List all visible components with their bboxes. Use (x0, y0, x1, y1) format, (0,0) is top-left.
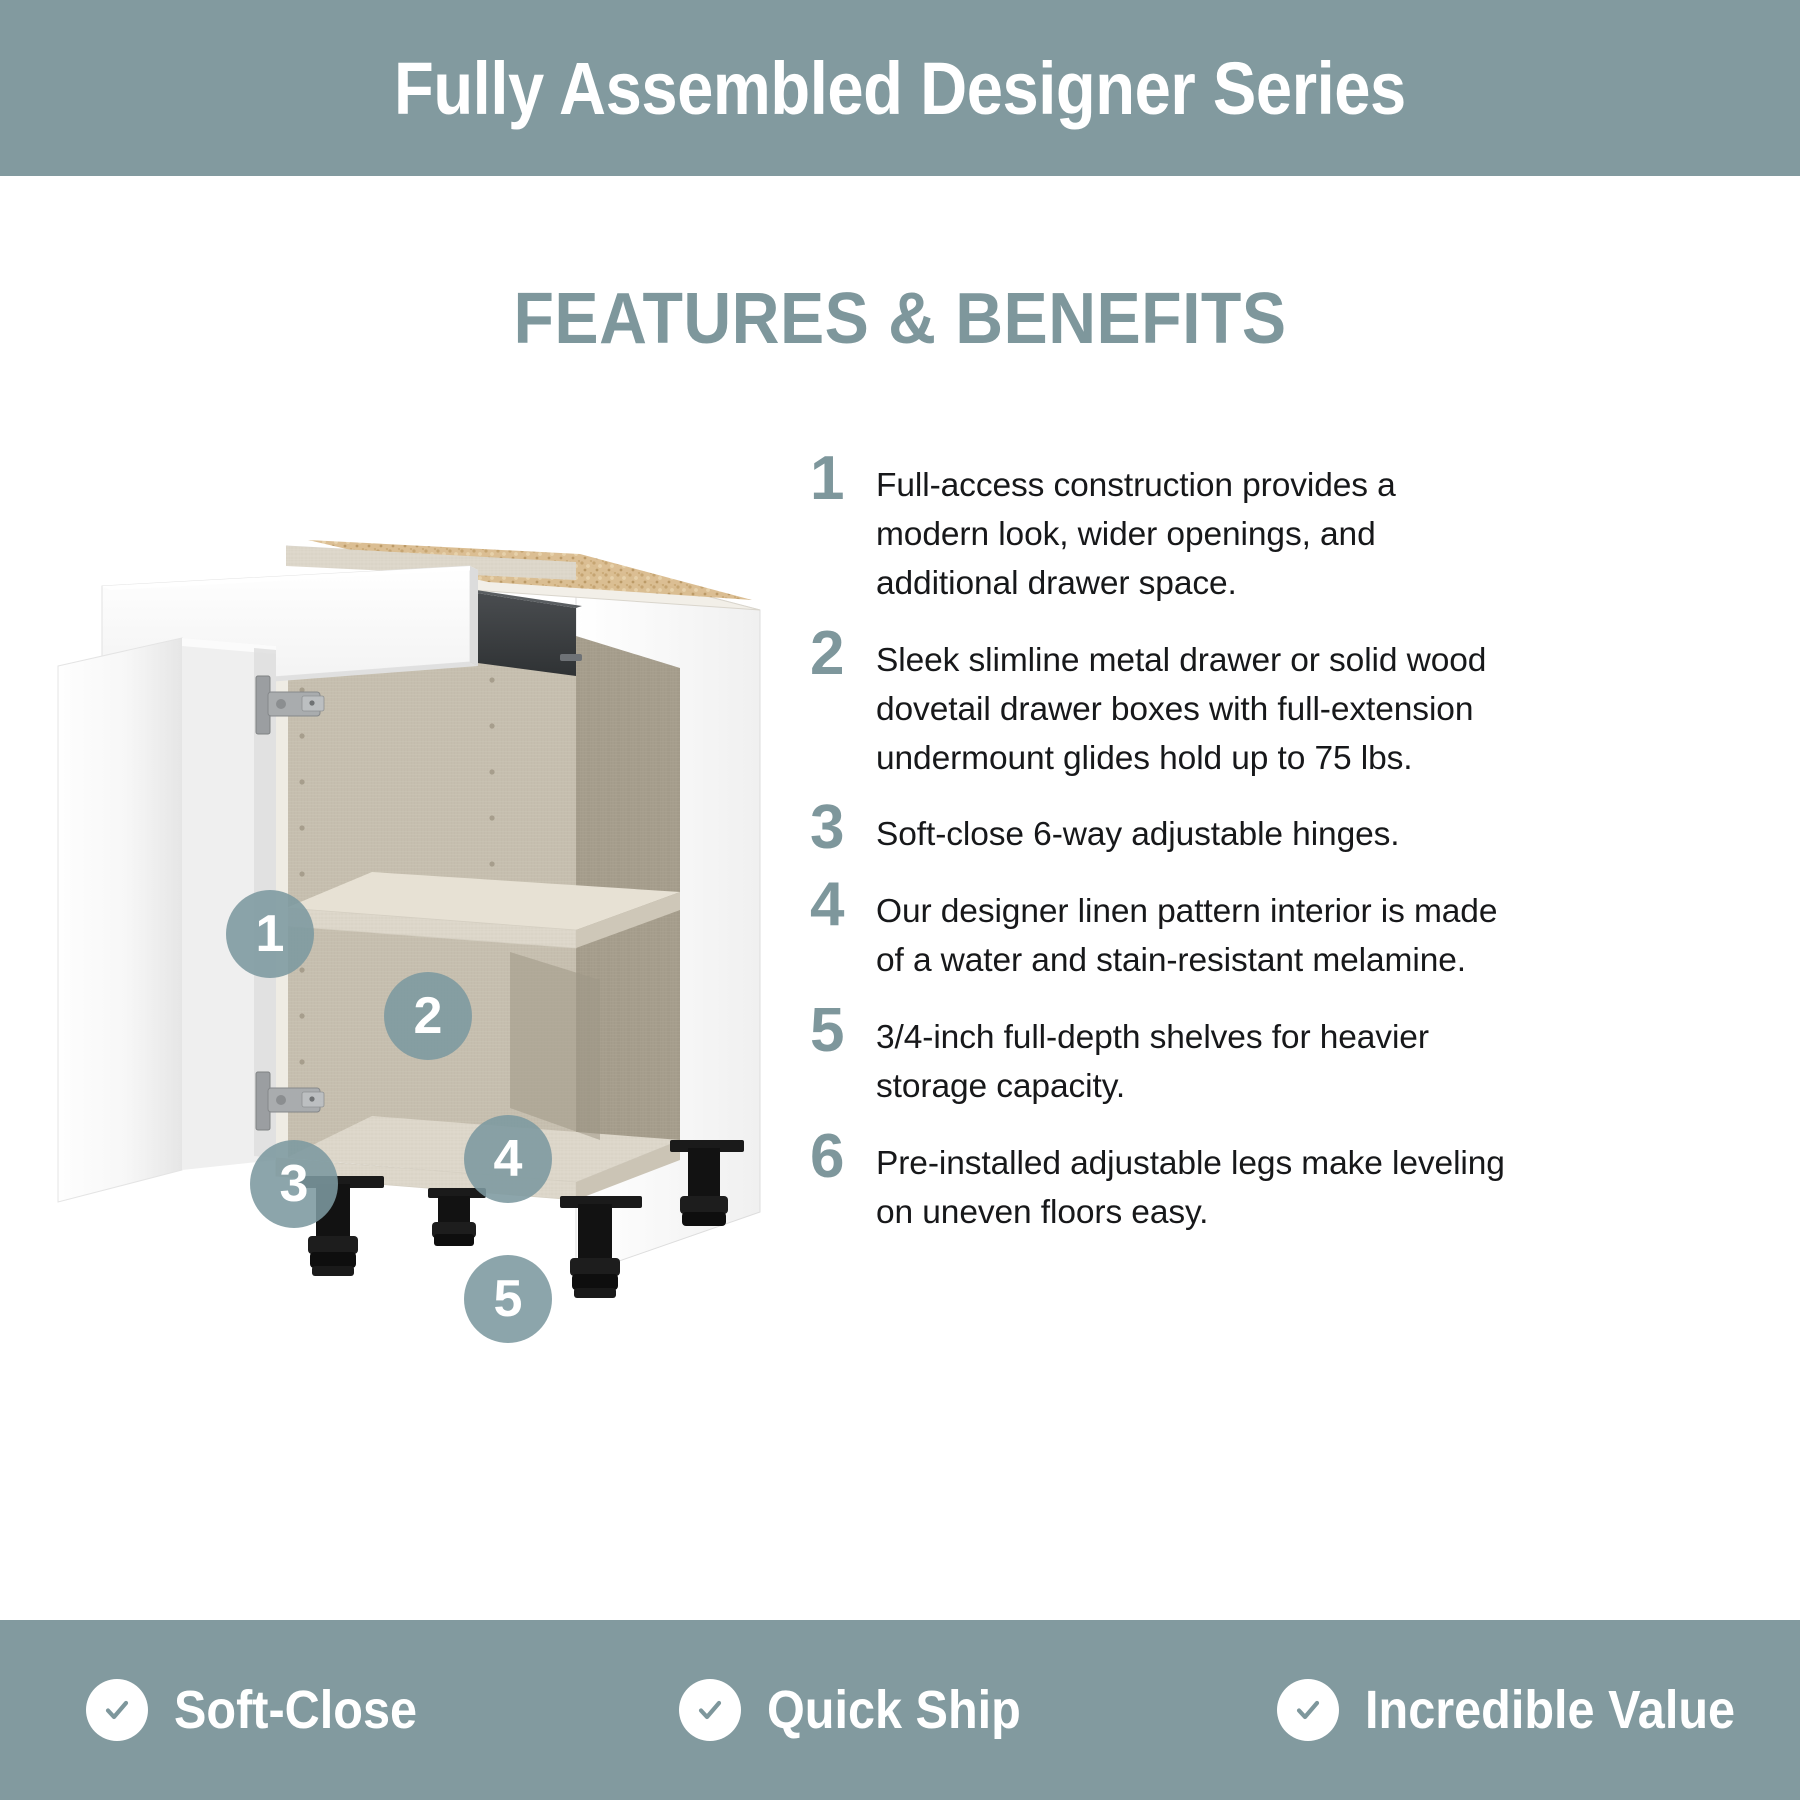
feature-text-6: Pre-installed adjustable legs make level… (876, 1126, 1510, 1238)
footer-label-quick-ship: Quick Ship (767, 1679, 1021, 1741)
check-circle-icon (679, 1679, 741, 1741)
feature-number-6: 6 (810, 1126, 876, 1187)
footer-badge-incredible-value: Incredible Value (1203, 1679, 1800, 1741)
footer-label-soft-close: Soft-Close (174, 1679, 417, 1741)
feature-item-5: 5 3/4-inch full-depth shelves for heavie… (810, 1000, 1510, 1112)
feature-number-1: 1 (810, 448, 876, 509)
feature-text-2: Sleek slimline metal drawer or solid woo… (876, 623, 1510, 784)
footer-label-incredible-value: Incredible Value (1365, 1679, 1735, 1741)
cabinet-render (40, 440, 800, 1500)
undermount-glide (560, 654, 582, 661)
footer-badge-quick-ship: Quick Ship (609, 1679, 1202, 1741)
callout-badge-4[interactable]: 4 (464, 1115, 552, 1203)
cabinet-interior-shadow (510, 952, 600, 1140)
feature-item-6: 6 Pre-installed adjustable legs make lev… (810, 1126, 1510, 1238)
callout-badge-3[interactable]: 3 (250, 1140, 338, 1228)
check-circle-icon (86, 1679, 148, 1741)
feature-item-4: 4 Our designer linen pattern interior is… (810, 874, 1510, 986)
feature-text-4: Our designer linen pattern interior is m… (876, 874, 1510, 986)
footer-band: Soft-Close Quick Ship Incredible Value (0, 1620, 1800, 1800)
feature-text-5: 3/4-inch full-depth shelves for heavier … (876, 1000, 1510, 1112)
check-circle-icon (1277, 1679, 1339, 1741)
feature-text-3: Soft-close 6-way adjustable hinges. (876, 797, 1510, 860)
footer-badge-soft-close: Soft-Close (0, 1679, 609, 1741)
cabinet-door-outer-face (58, 638, 182, 1202)
feature-item-3: 3 Soft-close 6-way adjustable hinges. (810, 797, 1510, 860)
callout-badge-1[interactable]: 1 (226, 890, 314, 978)
callout-badge-5[interactable]: 5 (464, 1255, 552, 1343)
header-band: Fully Assembled Designer Series (0, 0, 1800, 176)
adjustable-leg-rear-middle (428, 1188, 486, 1246)
feature-text-1: Full-access construction provides a mode… (876, 448, 1510, 609)
page-title: Fully Assembled Designer Series (394, 46, 1406, 131)
main-content: 1 2 3 4 5 6 1 Full-access construction p… (0, 400, 1800, 1600)
feature-number-3: 3 (810, 797, 876, 858)
feature-number-2: 2 (810, 623, 876, 684)
feature-number-4: 4 (810, 874, 876, 935)
section-heading: FEATURES & BENEFITS (72, 278, 1728, 360)
feature-number-5: 5 (810, 1000, 876, 1061)
callout-badge-2[interactable]: 2 (384, 972, 472, 1060)
feature-item-1: 1 Full-access construction provides a mo… (810, 448, 1510, 609)
drawer-front-right-edge (470, 566, 478, 666)
feature-list: 1 Full-access construction provides a mo… (810, 448, 1510, 1252)
feature-item-2: 2 Sleek slimline metal drawer or solid w… (810, 623, 1510, 784)
cabinet-illustration: 1 2 3 4 5 6 (40, 440, 800, 1500)
